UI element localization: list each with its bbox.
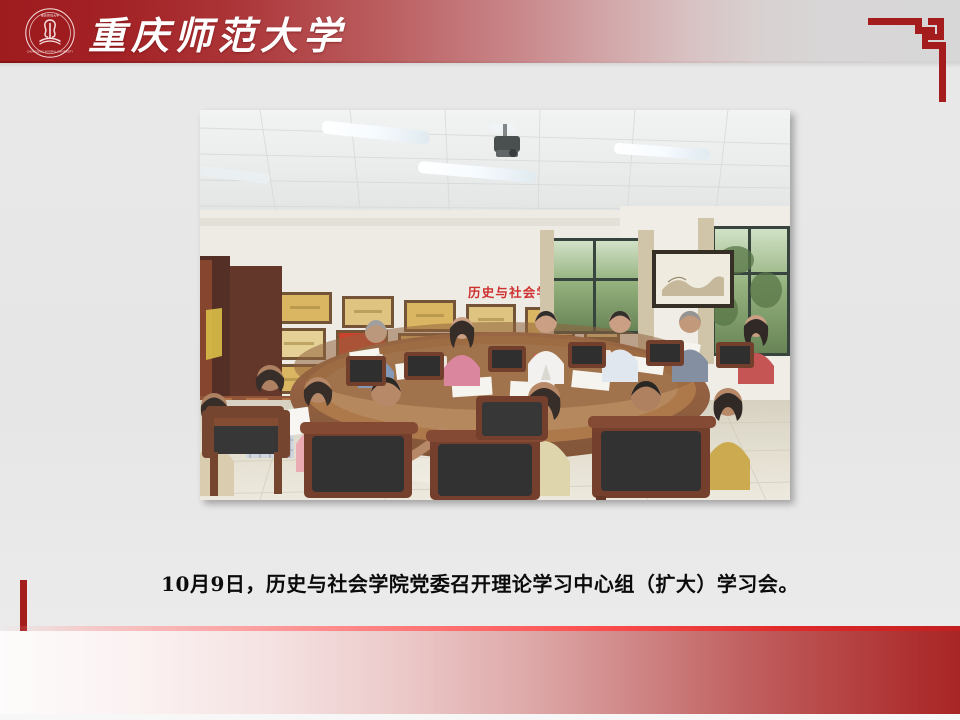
svg-text:CHONGQING NORMAL UNIVERSITY: CHONGQING NORMAL UNIVERSITY <box>27 50 74 54</box>
footer-gradient <box>0 631 960 714</box>
meeting-photograph: 历史与社会学院荣誉墙 <box>200 110 790 500</box>
university-name: 重庆师范大学 <box>88 4 346 60</box>
chinese-corner-bracket-icon-top-right <box>868 10 948 106</box>
photo-caption: 10月9日，历史与社会学院党委召开理论学习中心组（扩大）学习会。 <box>0 568 960 597</box>
footer-band <box>0 626 960 714</box>
svg-text:重庆师范大学: 重庆师范大学 <box>41 13 60 18</box>
header-underline <box>0 63 960 67</box>
footer-base-strip <box>0 714 960 720</box>
university-seal-icon: 重庆师范大学 CHONGQING NORMAL UNIVERSITY <box>24 7 76 59</box>
slide-canvas: 重庆师范大学 CHONGQING NORMAL UNIVERSITY 重庆师范大… <box>0 0 960 720</box>
